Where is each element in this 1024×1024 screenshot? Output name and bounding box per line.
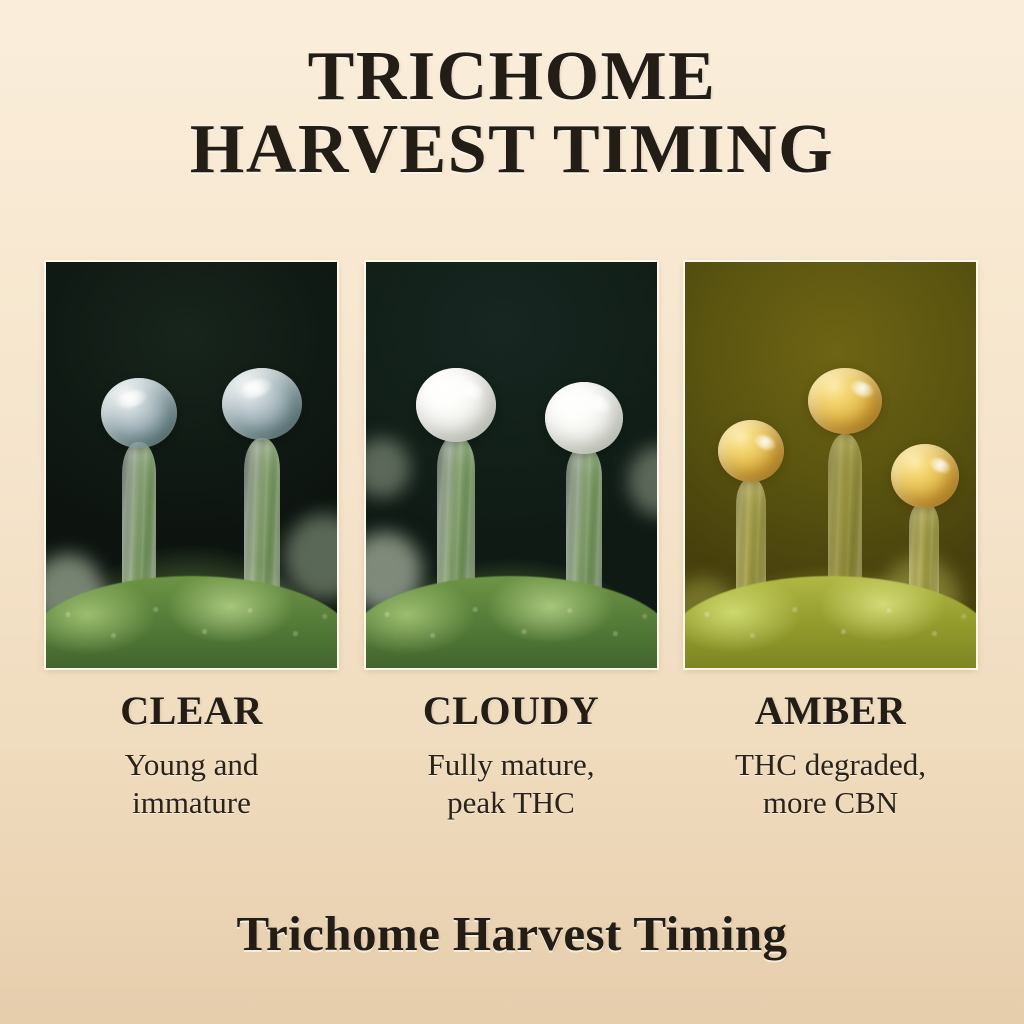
photo-panel-cloudy	[366, 262, 657, 668]
stage-description-cloudy: Fully mature, peak THC	[366, 746, 657, 822]
head-specular-highlight	[238, 376, 273, 401]
photo-panel-amber	[685, 262, 976, 668]
stage-description-line-2: immature	[46, 784, 337, 822]
trichome-head-cloudy	[545, 382, 623, 454]
surface-texture	[46, 576, 337, 668]
stage-description-amber: THC degraded, more CBN	[685, 746, 976, 822]
footer-caption: Trichome Harvest Timing	[0, 905, 1024, 962]
stage-name-cloudy: CLOUDY	[366, 690, 657, 732]
head-specular-highlight	[927, 455, 952, 476]
stage-description-line-2: peak THC	[366, 784, 657, 822]
plant-surface	[366, 576, 657, 668]
trichome-head-amber	[718, 420, 784, 482]
trichome-head-amber	[808, 368, 882, 434]
stage-caption-amber: AMBER THC degraded, more CBN	[685, 690, 976, 822]
stage-description-line-1: Young and	[46, 746, 337, 784]
title-line-1: TRICHOME	[0, 44, 1024, 111]
head-specular-highlight	[848, 378, 875, 400]
infographic-canvas: TRICHOME HARVEST TIMING	[0, 0, 1024, 1024]
plant-surface	[685, 576, 976, 668]
stage-description-clear: Young and immature	[46, 746, 337, 822]
stage-caption-row: CLEAR Young and immature CLOUDY Fully ma…	[46, 690, 976, 822]
page-title: TRICHOME HARVEST TIMING	[0, 44, 1024, 183]
head-specular-highlight	[752, 432, 777, 453]
trichome-head-clear	[222, 368, 302, 440]
stage-name-clear: CLEAR	[46, 690, 337, 732]
stage-caption-clear: CLEAR Young and immature	[46, 690, 337, 822]
title-line-2: HARVEST TIMING	[0, 117, 1024, 184]
stage-description-line-1: THC degraded,	[685, 746, 976, 784]
trichome-head-amber	[891, 444, 959, 508]
trichome-head-clear	[101, 378, 177, 448]
stage-name-amber: AMBER	[685, 690, 976, 732]
head-specular-highlight	[454, 376, 486, 402]
head-specular-highlight	[115, 387, 148, 411]
surface-texture	[685, 576, 976, 668]
head-specular-highlight	[582, 391, 612, 417]
macro-photo-clear	[46, 262, 337, 668]
macro-photo-amber	[685, 262, 976, 668]
plant-surface	[46, 576, 337, 668]
surface-texture	[366, 576, 657, 668]
stage-caption-cloudy: CLOUDY Fully mature, peak THC	[366, 690, 657, 822]
macro-photo-cloudy	[366, 262, 657, 668]
stage-description-line-1: Fully mature,	[366, 746, 657, 784]
trichome-head-cloudy	[416, 368, 496, 442]
trichome-photo-row	[46, 262, 976, 668]
stage-description-line-2: more CBN	[685, 784, 976, 822]
photo-panel-clear	[46, 262, 337, 668]
